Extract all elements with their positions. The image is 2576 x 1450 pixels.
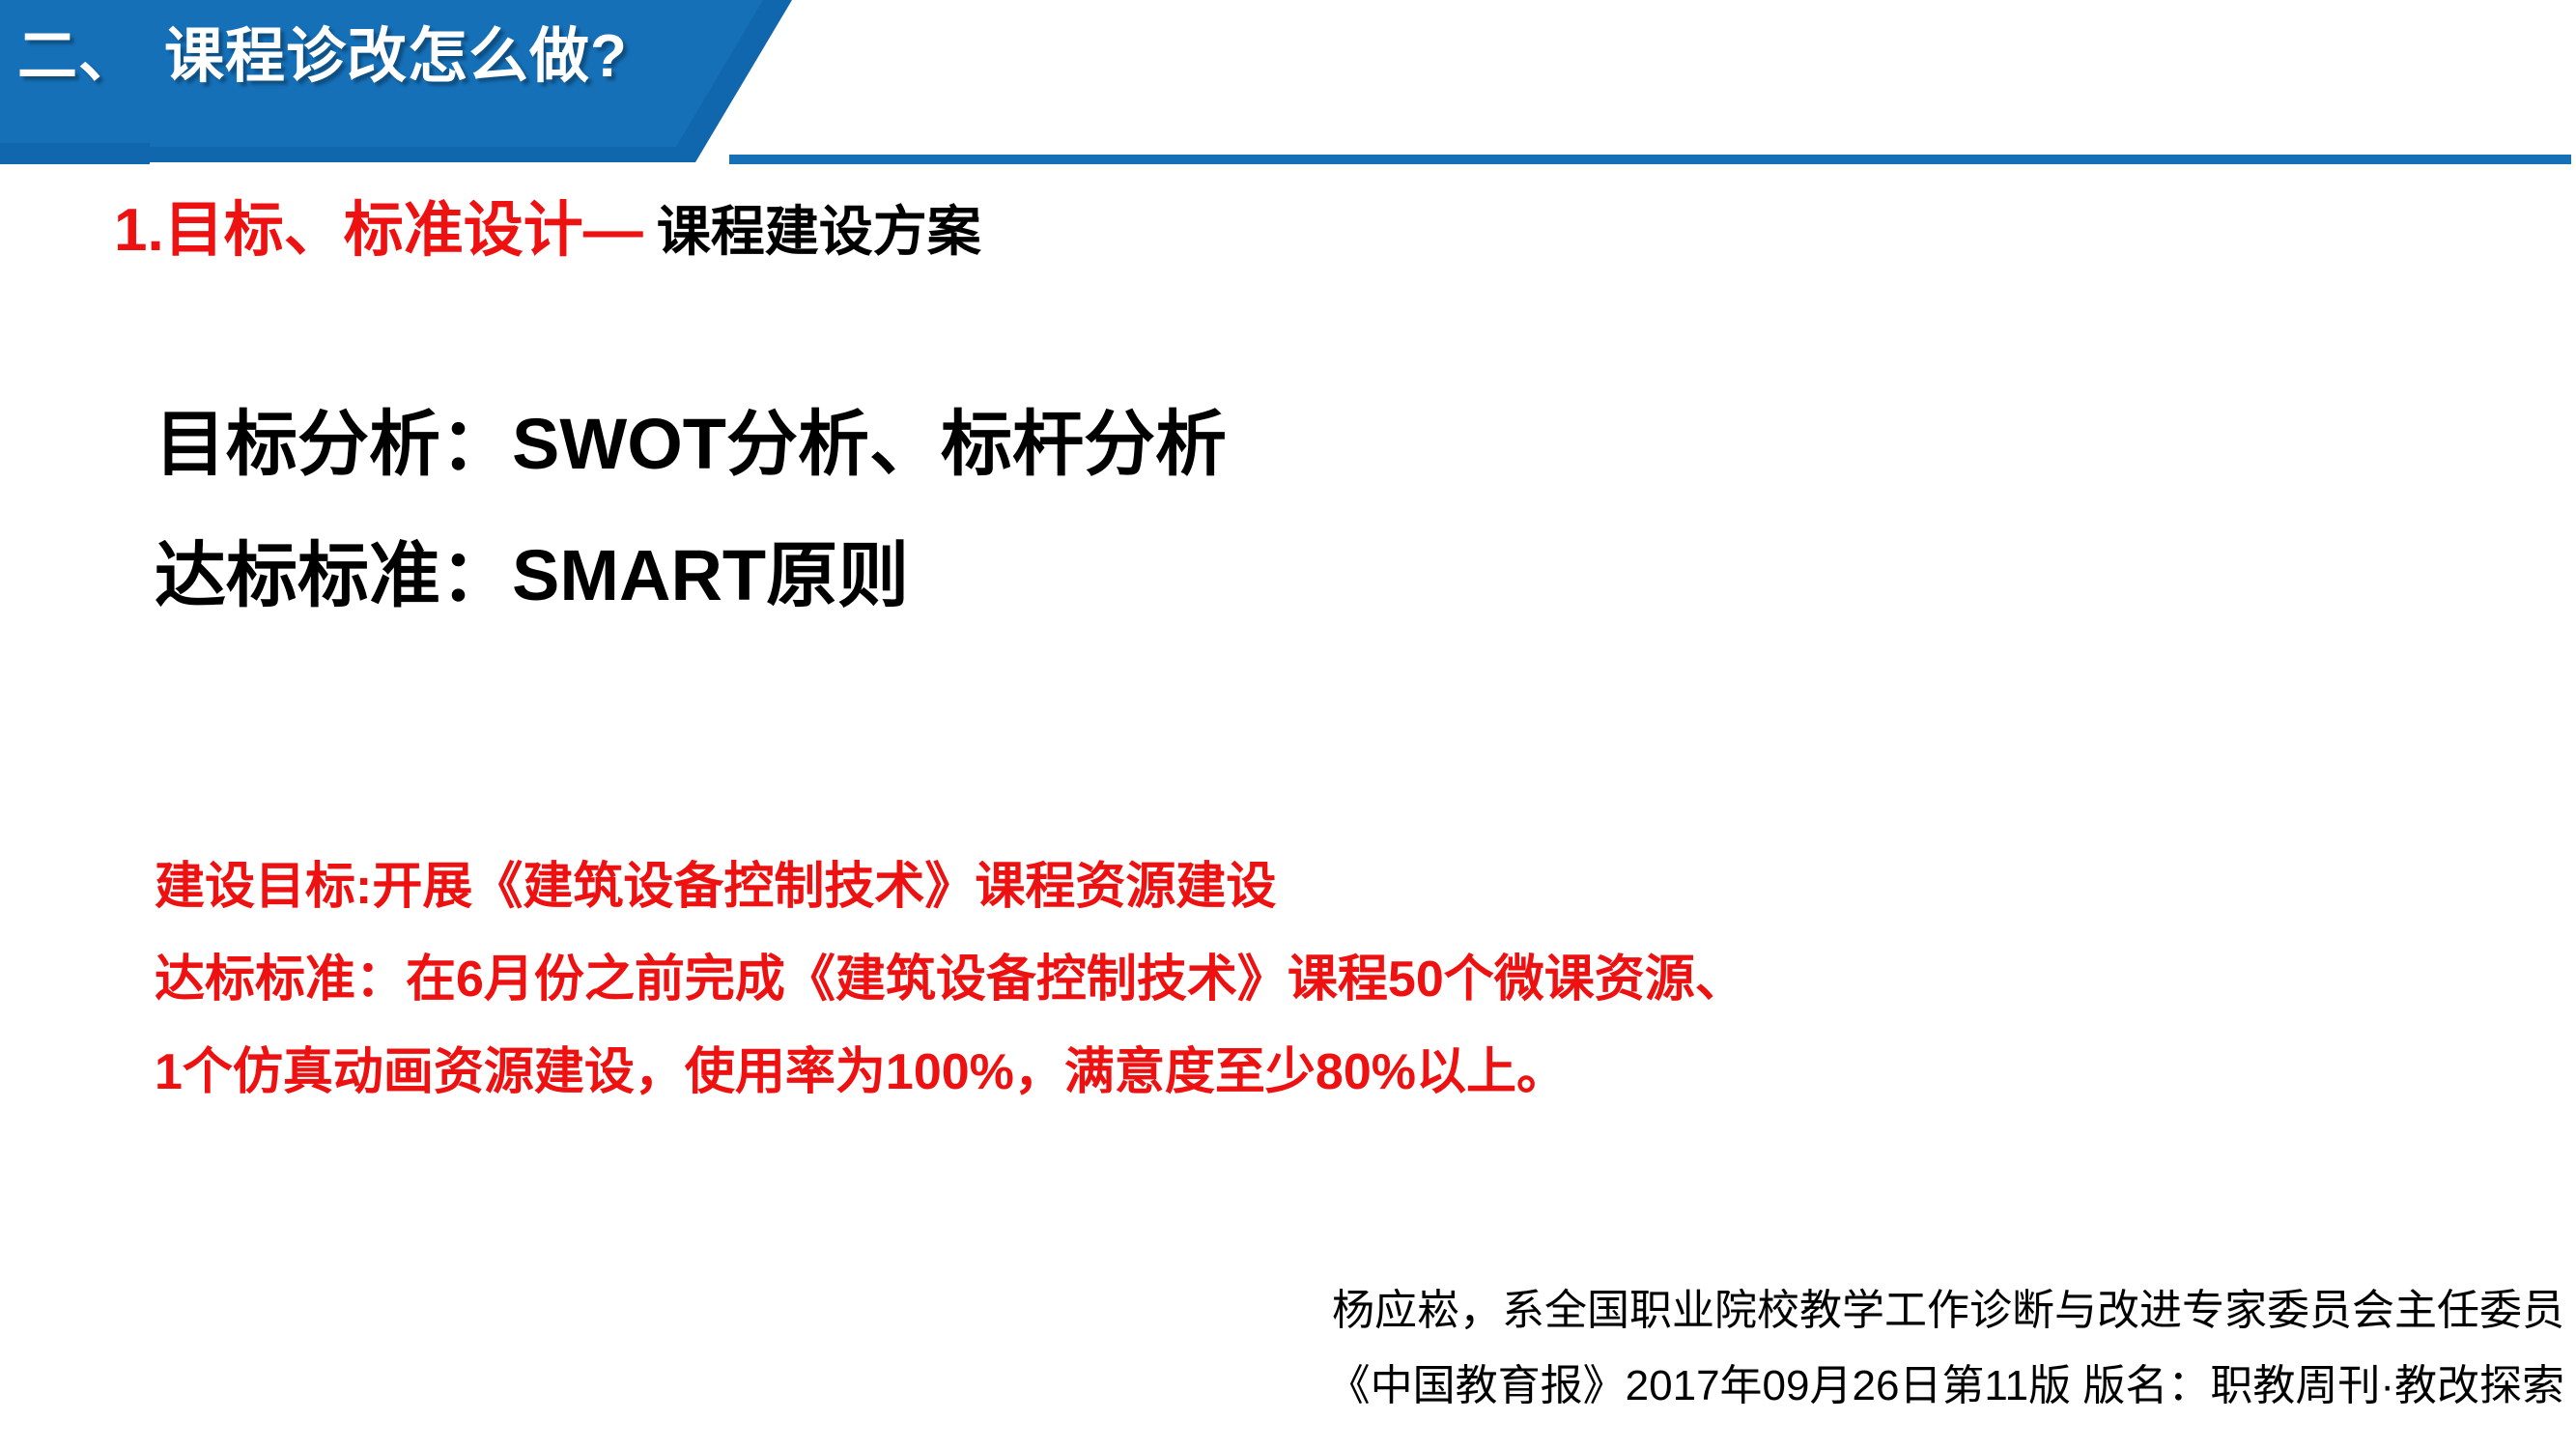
statement-line: 达标标准：SMART原则 (155, 510, 2279, 641)
sub-heading: 1.目标、标准设计—课程建设方案 (114, 189, 981, 273)
header-title-text: 课程诊改怎么做? (164, 23, 628, 90)
header-section-numeral: 二、 (17, 23, 139, 90)
attribution-line: 杨应崧，系全国职业院校教学工作诊断与改进专家委员会主任委员 (1058, 1273, 2564, 1349)
attribution-block: 杨应崧，系全国职业院校教学工作诊断与改进专家委员会主任委员 《中国教育报》201… (1058, 1273, 2564, 1424)
red-line: 1个仿真动画资源建设，使用率为100%，满意度至少80%以上。 (155, 1026, 2376, 1119)
red-example-block: 建设目标:开展《建筑设备控制技术》课程资源建设 达标标准：在6月份之前完成《建筑… (155, 840, 2376, 1119)
statement-line: 目标分析：SWOT分析、标杆分析 (155, 379, 2279, 510)
sub-heading-plain: 课程建设方案 (657, 201, 981, 262)
red-line: 达标标准：在6月份之前完成《建筑设备控制技术》课程50个微课资源、 (155, 933, 2376, 1026)
header-banner-foot (0, 143, 150, 164)
header-divider-line (729, 155, 2571, 164)
sub-heading-accent: 1.目标、标准设计— (114, 197, 643, 264)
attribution-line: 《中国教育报》2017年09月26日第11版 版名：职教周刊·教改探索 (1058, 1349, 2564, 1424)
slide-canvas: 二、课程诊改怎么做? 1.目标、标准设计—课程建设方案 目标分析：SWOT分析、… (0, 0, 2576, 1450)
statement-list: 目标分析：SWOT分析、标杆分析 达标标准：SMART原则 (155, 379, 2279, 641)
header-title: 二、课程诊改怎么做? (17, 10, 628, 104)
red-line: 建设目标:开展《建筑设备控制技术》课程资源建设 (155, 840, 2376, 933)
